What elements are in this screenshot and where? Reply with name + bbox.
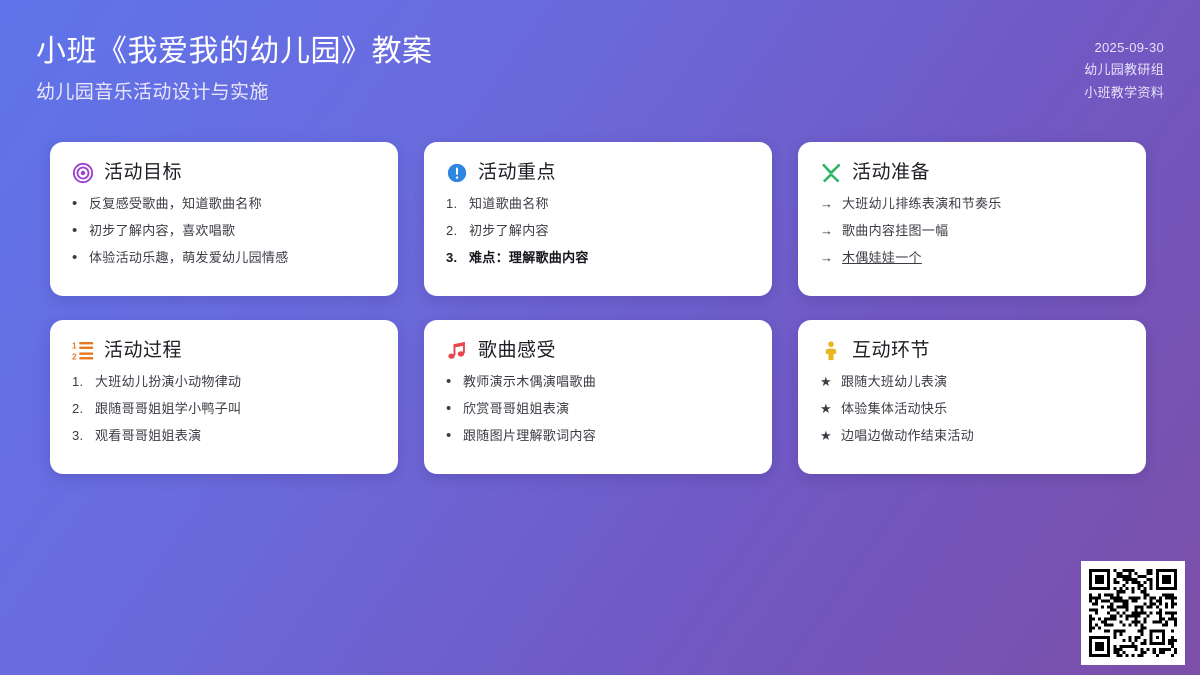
list-item-marker: 3.: [446, 249, 461, 268]
list-item-marker: •: [72, 196, 81, 213]
list-item-marker: •: [446, 401, 455, 418]
card-header: 歌曲感受: [446, 340, 750, 362]
list-item-marker: →: [820, 195, 834, 214]
music-note-icon: [446, 340, 468, 362]
card-title: 互动环节: [852, 341, 930, 362]
page-header: 小班《我爱我的幼儿园》教案 幼儿园音乐活动设计与实施 2025-09-30 幼儿…: [0, 0, 1200, 128]
target-icon: [72, 162, 94, 184]
list-item-text: 反复感受歌曲，知道歌曲名称: [89, 195, 376, 214]
list-item-marker: 3.: [72, 427, 87, 446]
card-objectives: 活动目标•反复感受歌曲，知道歌曲名称•初步了解内容，喜欢唱歌•体验活动乐趣，萌发…: [50, 142, 398, 296]
card-list: ★跟随大班幼儿表演★体验集体活动快乐★边唱边做动作结束活动: [820, 373, 1124, 446]
list-item-marker: ★: [820, 373, 833, 392]
list-item-marker: 1.: [72, 373, 87, 392]
card-interaction: 互动环节★跟随大班幼儿表演★体验集体活动快乐★边唱边做动作结束活动: [798, 320, 1146, 474]
list-item: 2.跟随哥哥姐姐学小鸭子叫: [72, 400, 376, 419]
header-meta: 2025-09-30 幼儿园教研组 小班教学资料: [1084, 37, 1164, 104]
list-item: 3.难点：理解歌曲内容: [446, 249, 750, 268]
card-list: 1.大班幼儿扮演小动物律动2.跟随哥哥姐姐学小鸭子叫3.观看哥哥姐姐表演: [72, 373, 376, 446]
card-title: 歌曲感受: [478, 341, 556, 362]
list-item-text: 难点：理解歌曲内容: [469, 249, 750, 268]
svg-text:2: 2: [72, 352, 77, 361]
card-header: 活动目标: [72, 162, 376, 184]
list-item-text: 观看哥哥姐姐表演: [95, 427, 376, 446]
list-item-text: 大班幼儿扮演小动物律动: [95, 373, 376, 392]
list-item: ★边唱边做动作结束活动: [820, 427, 1124, 446]
list-item-text: 体验活动乐趣，萌发爱幼儿园情感: [89, 249, 376, 268]
list-item: →歌曲内容挂图一幅: [820, 222, 1124, 241]
exclamation-circle-icon: [446, 162, 468, 184]
list-item-marker: 1.: [446, 195, 461, 214]
list-item: ★跟随大班幼儿表演: [820, 373, 1124, 392]
list-item-marker: →: [820, 222, 834, 241]
card-title: 活动重点: [478, 163, 556, 184]
list-item-text: 歌曲内容挂图一幅: [842, 222, 1124, 241]
list-item-marker: 2.: [446, 222, 461, 241]
numbered-list-icon: 12: [72, 340, 94, 362]
page-title: 小班《我爱我的幼儿园》教案: [36, 32, 433, 71]
list-item: •教师演示木偶演唱歌曲: [446, 373, 750, 392]
tools-icon: [820, 162, 842, 184]
list-item-marker: •: [72, 250, 81, 267]
card-process: 12活动过程1.大班幼儿扮演小动物律动2.跟随哥哥姐姐学小鸭子叫3.观看哥哥姐姐…: [50, 320, 398, 474]
qr-code-image: [1089, 569, 1177, 657]
child-icon: [820, 340, 842, 362]
list-item-marker: →: [820, 249, 834, 268]
card-list: •反复感受歌曲，知道歌曲名称•初步了解内容，喜欢唱歌•体验活动乐趣，萌发爱幼儿园…: [72, 195, 376, 268]
list-item-marker: •: [446, 428, 455, 445]
list-item-marker: ★: [820, 400, 833, 419]
list-item-text: 大班幼儿排练表演和节奏乐: [842, 195, 1124, 214]
card-title: 活动过程: [104, 341, 182, 362]
meta-organization: 幼儿园教研组: [1084, 59, 1164, 81]
list-item-text: 跟随哥哥姐姐学小鸭子叫: [95, 400, 376, 419]
list-item-text: 教师演示木偶演唱歌曲: [463, 373, 750, 392]
card-grid: 活动目标•反复感受歌曲，知道歌曲名称•初步了解内容，喜欢唱歌•体验活动乐趣，萌发…: [50, 142, 1150, 474]
list-item: 1.大班幼儿扮演小动物律动: [72, 373, 376, 392]
card-key-points: 活动重点1.知道歌曲名称2.初步了解内容3.难点：理解歌曲内容: [424, 142, 772, 296]
page-subtitle: 幼儿园音乐活动设计与实施: [36, 80, 433, 106]
list-item-marker: 2.: [72, 400, 87, 419]
list-item-text: 体验集体活动快乐: [841, 400, 1124, 419]
list-item-text: 初步了解内容: [469, 222, 750, 241]
list-item: •体验活动乐趣，萌发爱幼儿园情感: [72, 249, 376, 268]
list-item: 2.初步了解内容: [446, 222, 750, 241]
card-header: 互动环节: [820, 340, 1124, 362]
list-item: ★体验集体活动快乐: [820, 400, 1124, 419]
qr-code[interactable]: [1081, 561, 1185, 665]
list-item-marker: •: [72, 223, 81, 240]
list-item: 1.知道歌曲名称: [446, 195, 750, 214]
list-item: →大班幼儿排练表演和节奏乐: [820, 195, 1124, 214]
card-header: 活动准备: [820, 162, 1124, 184]
list-item: →木偶娃娃一个: [820, 249, 1124, 268]
list-item: •反复感受歌曲，知道歌曲名称: [72, 195, 376, 214]
card-header: 活动重点: [446, 162, 750, 184]
list-item-text: 木偶娃娃一个: [842, 249, 1124, 268]
list-item-text: 跟随图片理解歌词内容: [463, 427, 750, 446]
card-list: •教师演示木偶演唱歌曲•欣赏哥哥姐姐表演•跟随图片理解歌词内容: [446, 373, 750, 446]
list-item-marker: ★: [820, 427, 833, 446]
list-item-text: 边唱边做动作结束活动: [841, 427, 1124, 446]
list-item-text: 初步了解内容，喜欢唱歌: [89, 222, 376, 241]
list-item: •跟随图片理解歌词内容: [446, 427, 750, 446]
card-list: 1.知道歌曲名称2.初步了解内容3.难点：理解歌曲内容: [446, 195, 750, 268]
card-song-feeling: 歌曲感受•教师演示木偶演唱歌曲•欣赏哥哥姐姐表演•跟随图片理解歌词内容: [424, 320, 772, 474]
header-title-block: 小班《我爱我的幼儿园》教案 幼儿园音乐活动设计与实施: [36, 26, 433, 106]
card-list: →大班幼儿排练表演和节奏乐→歌曲内容挂图一幅→木偶娃娃一个: [820, 195, 1124, 268]
card-preparation: 活动准备→大班幼儿排练表演和节奏乐→歌曲内容挂图一幅→木偶娃娃一个: [798, 142, 1146, 296]
list-item-text: 欣赏哥哥姐姐表演: [463, 400, 750, 419]
svg-text:1: 1: [72, 341, 77, 350]
list-item: •初步了解内容，喜欢唱歌: [72, 222, 376, 241]
list-item: •欣赏哥哥姐姐表演: [446, 400, 750, 419]
card-title: 活动准备: [852, 163, 930, 184]
list-item-text: 跟随大班幼儿表演: [841, 373, 1124, 392]
list-item-marker: •: [446, 374, 455, 391]
card-header: 12活动过程: [72, 340, 376, 362]
list-item-text: 知道歌曲名称: [469, 195, 750, 214]
meta-category: 小班教学资料: [1084, 82, 1164, 104]
meta-date: 2025-09-30: [1095, 37, 1165, 59]
list-item: 3.观看哥哥姐姐表演: [72, 427, 376, 446]
card-title: 活动目标: [104, 163, 182, 184]
